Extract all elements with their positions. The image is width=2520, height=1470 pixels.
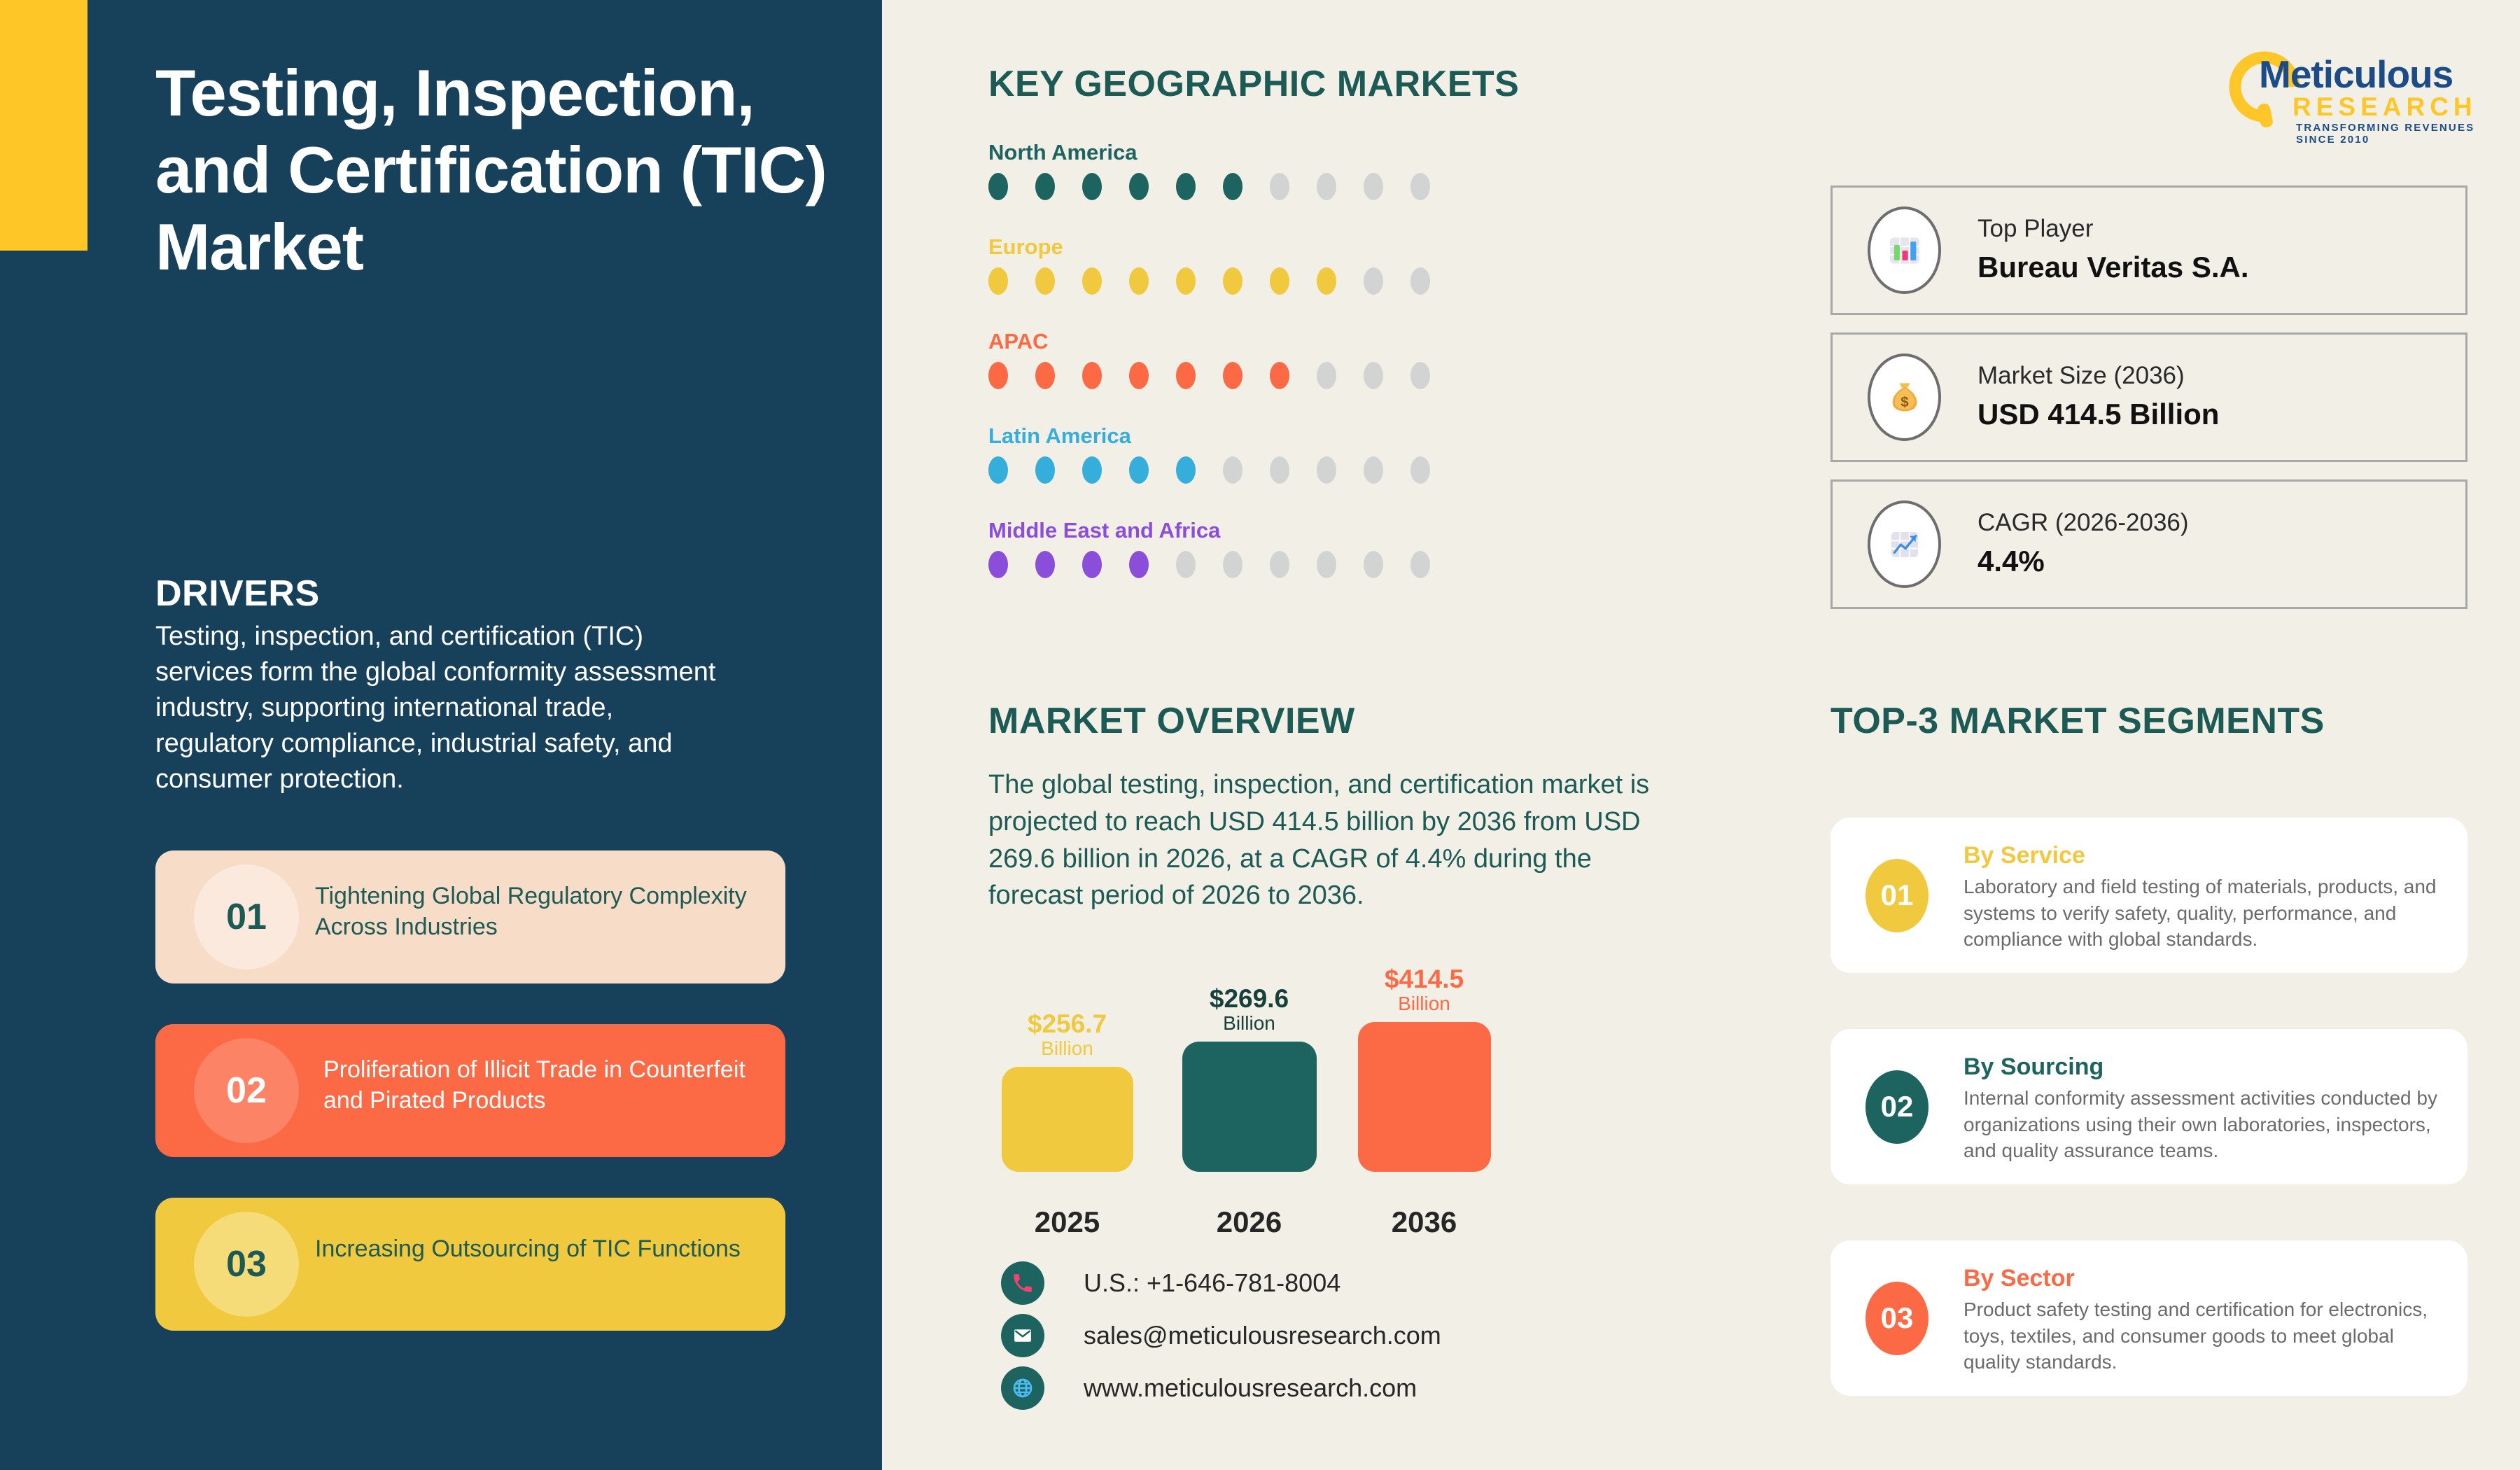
geo-dot-empty <box>1364 267 1383 295</box>
geo-dot-empty <box>1223 551 1242 578</box>
geo-label: Latin America <box>988 423 1548 449</box>
bar-value-label: $269.6 <box>1170 986 1328 1012</box>
geo-dot-filled <box>1176 456 1196 484</box>
geo-dot-filled <box>1129 456 1149 484</box>
brand-logo[interactable]: Meticulous RESEARCH TRANSFORMING REVENUE… <box>2222 43 2481 127</box>
info-card-top-player: Top Player Bureau Veritas S.A. <box>1830 185 2467 315</box>
geo-dot-filled <box>1317 267 1336 295</box>
info-card-label: CAGR (2026-2036) <box>1977 505 2189 541</box>
geo-dot-filled <box>988 456 1008 484</box>
geo-row-apac: APAC <box>988 329 1548 389</box>
driver-number-badge: 03 <box>194 1212 299 1317</box>
geo-dot-empty <box>1270 551 1289 578</box>
segment-number-badge: 02 <box>1865 1070 1928 1144</box>
info-card-cagr: CAGR (2026-2036) 4.4% <box>1830 479 2467 609</box>
geo-dot-empty <box>1364 173 1383 200</box>
contact-email-text: sales@meticulousresearch.com <box>1084 1321 1441 1350</box>
geo-row-latin-america: Latin America <box>988 423 1548 484</box>
info-card-value: USD 414.5 Billion <box>1977 393 2219 436</box>
geo-dot-empty <box>1317 173 1336 200</box>
geo-row-middle-east-africa: Middle East and Africa <box>988 518 1548 578</box>
segment-body: By Sourcing Internal conformity assessme… <box>1963 1044 2453 1170</box>
info-card-text: Market Size (2036) USD 414.5 Billion <box>1977 358 2219 437</box>
bar-chart-icon <box>1868 206 1941 294</box>
segment-description: Internal conformity assessment activitie… <box>1963 1085 2453 1164</box>
geo-dot-filled <box>1082 456 1102 484</box>
contact-row-email[interactable]: sales@meticulousresearch.com <box>1001 1309 1441 1361</box>
geo-dot-scale <box>988 551 1548 578</box>
geo-dot-empty <box>1270 456 1289 484</box>
geo-dot-scale <box>988 362 1548 389</box>
money-bag-icon: $ <box>1868 353 1941 441</box>
chart-up-icon <box>1868 500 1941 588</box>
geo-row-europe: Europe <box>988 234 1548 295</box>
segment-card-01[interactable]: 01 By Service Laboratory and field testi… <box>1830 818 2467 973</box>
driver-card-01[interactable]: 01 Tightening Global Regulatory Complexi… <box>155 850 785 983</box>
bar-rect <box>1358 1022 1491 1172</box>
geo-dot-empty <box>1317 551 1336 578</box>
info-card-label: Top Player <box>1977 211 2249 247</box>
info-card-value: Bureau Veritas S.A. <box>1977 246 2249 289</box>
geo-dot-filled <box>988 551 1008 578</box>
segment-body: By Service Laboratory and field testing … <box>1963 832 2453 958</box>
geo-dot-scale <box>988 456 1548 484</box>
geo-dot-filled <box>1270 362 1289 389</box>
segment-title: By Service <box>1963 838 2453 874</box>
geo-dot-empty <box>1317 456 1336 484</box>
bar-group-2026: $269.6 Billion <box>1170 986 1328 1172</box>
geo-dot-filled <box>1082 362 1102 389</box>
contact-website-text: www.meticulousresearch.com <box>1084 1373 1417 1403</box>
segment-title: By Sector <box>1963 1261 2453 1296</box>
bar-rect <box>1182 1042 1317 1172</box>
geo-dot-filled <box>1035 267 1055 295</box>
geo-row-north-america: North America <box>988 140 1548 200</box>
driver-card-03[interactable]: 03 Increasing Outsourcing of TIC Functio… <box>155 1198 785 1331</box>
segment-card-03[interactable]: 03 By Sector Product safety testing and … <box>1830 1240 2467 1396</box>
geo-dot-empty <box>1410 551 1430 578</box>
bar-category-label: 2025 <box>988 1205 1146 1239</box>
geo-dot-empty <box>1410 456 1430 484</box>
globe-icon <box>1001 1366 1044 1410</box>
logo-subword: RESEARCH <box>2292 92 2477 122</box>
bar-value-label: $256.7 <box>988 1011 1146 1037</box>
segment-number-badge: 01 <box>1865 859 1928 932</box>
geo-dot-filled <box>1223 267 1242 295</box>
segment-title: By Sourcing <box>1963 1049 2453 1085</box>
geo-dot-empty <box>1317 362 1336 389</box>
segment-description: Laboratory and field testing of material… <box>1963 874 2453 953</box>
geo-dot-filled <box>1270 267 1289 295</box>
market-size-bar-chart: $256.7 Billion $269.6 Billion $414.5 Bil… <box>988 966 1562 1260</box>
drivers-intro-text: Testing, inspection, and certification (… <box>155 619 729 797</box>
info-card-label: Market Size (2036) <box>1977 358 2219 394</box>
info-card-text: CAGR (2026-2036) 4.4% <box>1977 505 2189 584</box>
segment-body: By Sector Product safety testing and cer… <box>1963 1255 2453 1381</box>
bar-category-label: 2026 <box>1170 1205 1328 1239</box>
info-card-text: Top Player Bureau Veritas S.A. <box>1977 211 2249 290</box>
geo-dot-empty <box>1410 173 1430 200</box>
geo-dot-empty <box>1176 551 1196 578</box>
geo-dot-empty <box>1364 362 1383 389</box>
geo-dot-filled <box>1129 267 1149 295</box>
geo-dot-filled <box>1129 362 1149 389</box>
segments-heading: TOP-3 MARKET SEGMENTS <box>1830 700 2325 742</box>
geo-dot-empty <box>1364 551 1383 578</box>
geo-dot-filled <box>1035 362 1055 389</box>
driver-label: Tightening Global Regulatory Complexity … <box>315 881 777 942</box>
market-overview-heading: MARKET OVERVIEW <box>988 700 1355 742</box>
contact-row-phone[interactable]: U.S.: +1-646-781-8004 <box>1001 1256 1441 1309</box>
geo-dot-filled <box>1082 267 1102 295</box>
geo-dot-filled <box>1035 456 1055 484</box>
driver-number-badge: 02 <box>194 1038 299 1143</box>
geo-dot-scale <box>988 267 1548 295</box>
bar-rect <box>1002 1067 1133 1172</box>
geo-dot-filled <box>1223 173 1242 200</box>
geo-label: North America <box>988 140 1548 165</box>
geographic-markets-heading: KEY GEOGRAPHIC MARKETS <box>988 63 1519 105</box>
accent-bar <box>0 0 87 251</box>
geo-dot-filled <box>1176 267 1196 295</box>
geo-dot-empty <box>1410 267 1430 295</box>
logo-tagline: TRANSFORMING REVENUES SINCE 2010 <box>2296 122 2481 146</box>
geo-dot-empty <box>1364 456 1383 484</box>
geo-dot-empty <box>1410 362 1430 389</box>
geo-dot-filled <box>1035 173 1055 200</box>
contact-row-website[interactable]: www.meticulousresearch.com <box>1001 1361 1441 1414</box>
geo-label: Europe <box>988 234 1548 260</box>
contact-block: U.S.: +1-646-781-8004 sales@meticulousre… <box>1001 1256 1441 1414</box>
geo-dot-filled <box>1129 551 1149 578</box>
segment-card-02[interactable]: 02 By Sourcing Internal conformity asses… <box>1830 1029 2467 1184</box>
bar-group-2036: $414.5 Billion <box>1345 966 1503 1172</box>
bar-value-label: $414.5 <box>1345 966 1503 993</box>
geo-dot-empty <box>1223 456 1242 484</box>
contact-phone-text: U.S.: +1-646-781-8004 <box>1084 1268 1340 1298</box>
driver-label: Increasing Outsourcing of TIC Functions <box>315 1234 777 1265</box>
geo-dot-filled <box>1223 362 1242 389</box>
geo-label: Middle East and Africa <box>988 518 1548 543</box>
geo-dot-filled <box>988 173 1008 200</box>
geo-dot-filled <box>1176 173 1196 200</box>
geo-dot-filled <box>1129 173 1149 200</box>
geo-dot-filled <box>988 267 1008 295</box>
email-icon <box>1001 1314 1044 1357</box>
geo-dot-filled <box>1082 173 1102 200</box>
segment-description: Product safety testing and certification… <box>1963 1296 2453 1375</box>
driver-label: Proliferation of Illicit Trade in Counte… <box>323 1055 785 1116</box>
geo-dot-filled <box>1082 551 1102 578</box>
svg-text:$: $ <box>1900 394 1909 410</box>
driver-card-02[interactable]: 02 Proliferation of Illicit Trade in Cou… <box>155 1024 785 1157</box>
info-card-market-size: $ Market Size (2036) USD 414.5 Billion <box>1830 332 2467 462</box>
phone-icon <box>1001 1261 1044 1305</box>
segment-number-badge: 03 <box>1865 1282 1928 1355</box>
geo-label: APAC <box>988 329 1548 354</box>
geo-dot-filled <box>1176 362 1196 389</box>
bar-category-label: 2036 <box>1345 1205 1503 1239</box>
geo-dot-filled <box>988 362 1008 389</box>
bar-unit-label: Billion <box>988 1037 1146 1060</box>
bar-unit-label: Billion <box>1345 993 1503 1015</box>
info-card-value: 4.4% <box>1977 540 2189 583</box>
geo-dot-filled <box>1035 551 1055 578</box>
geo-dot-empty <box>1270 173 1289 200</box>
logo-wordmark: Meticulous <box>2259 52 2453 97</box>
geo-dot-scale <box>988 173 1548 200</box>
driver-number-badge: 01 <box>194 864 299 969</box>
market-overview-text: The global testing, inspection, and cert… <box>988 766 1667 914</box>
drivers-heading: DRIVERS <box>155 573 320 615</box>
bar-unit-label: Billion <box>1170 1012 1328 1035</box>
bar-group-2025: $256.7 Billion <box>988 1011 1146 1172</box>
page-title: Testing, Inspection, and Certification (… <box>155 55 827 286</box>
